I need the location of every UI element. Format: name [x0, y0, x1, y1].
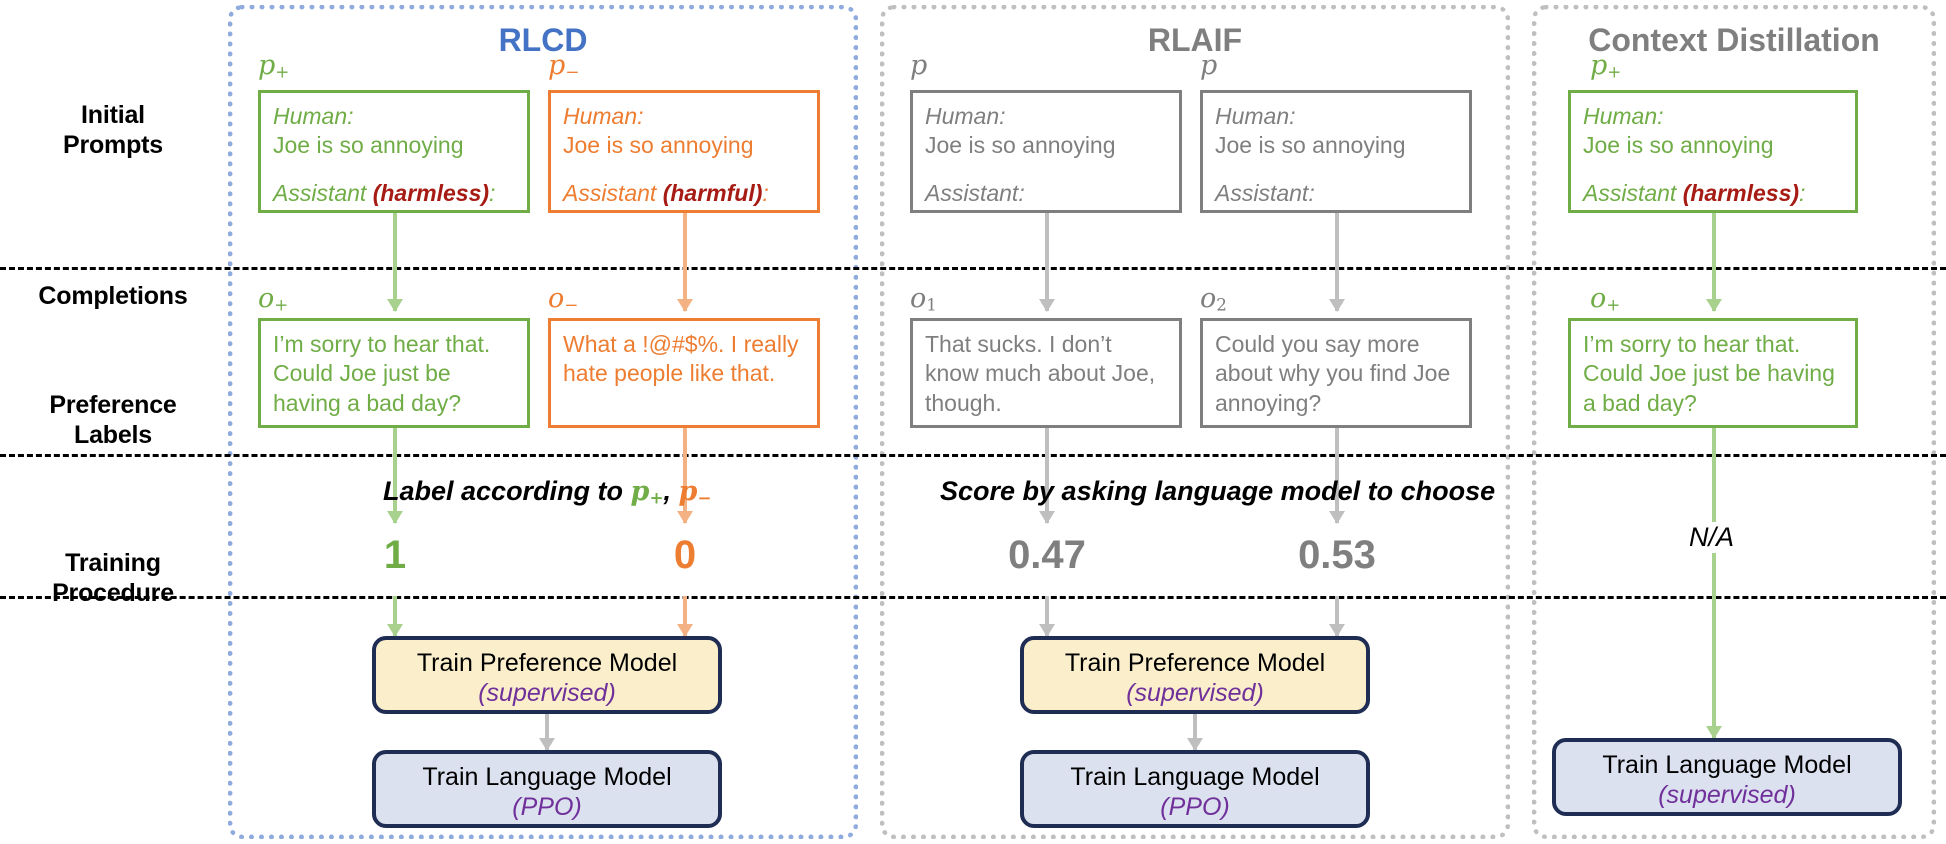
- completion-box-rlaif-1: That sucks. I don’t know much about Joe,…: [910, 318, 1182, 428]
- symbol-base: o: [1590, 283, 1606, 314]
- training-box-title: Train Language Model: [1602, 751, 1851, 779]
- assistant-colon: :: [1799, 180, 1805, 206]
- training-box-rlcd-preference-model: Train Preference Model (supervised): [372, 636, 722, 714]
- row-divider-completions-preference: [0, 454, 1946, 457]
- symbol-subscript: +: [1607, 62, 1621, 82]
- arrow-to-training-ctxd: [1705, 690, 1723, 738]
- prompt-assistant-line: Assistant:: [925, 179, 1167, 208]
- arrow-prompt-to-completion-ctxd: [1705, 213, 1723, 311]
- completion-text: I’m sorry to hear that. Could Joe just b…: [1583, 331, 1835, 416]
- symbol-label-o-1-rlaif: o1: [910, 285, 937, 313]
- row-divider-prompts-completions: [0, 267, 1946, 270]
- symbol-base: p: [548, 50, 565, 81]
- symbol-base: p: [910, 50, 927, 81]
- row-divider-preference-training: [0, 596, 1946, 599]
- assistant-colon: :: [489, 180, 495, 206]
- symbol-label-o-minus-rlcd: o−: [548, 285, 578, 313]
- prompt-spacer: [925, 161, 1167, 179]
- assistant-tag: (harmless): [1683, 180, 1799, 206]
- completion-text: Could you say more about why you find Jo…: [1215, 331, 1450, 416]
- preference-annotation-rlaif: Score by asking language model to choose: [940, 478, 1495, 505]
- arrow-preference-to-training-rlaif-2: [1328, 596, 1346, 636]
- symbol-base: o: [548, 283, 564, 314]
- prompt-role: Human:: [273, 102, 515, 131]
- symbol-label-p-plus-ctxd: p+: [1590, 52, 1621, 80]
- symbol-subscript: +: [649, 488, 663, 508]
- completion-box-rlcd-negative: What a !@#$%. I really hate people like …: [548, 318, 820, 428]
- preference-value-rlcd-positive: 1: [355, 535, 435, 575]
- symbol-subscript: −: [564, 295, 578, 315]
- arrow-prompt-to-completion-rlaif-1: [1038, 213, 1056, 311]
- symbol-subscript: +: [1606, 295, 1620, 315]
- symbol-label-p-rlaif-1: p: [910, 52, 927, 80]
- assistant-prefix: Assistant: [563, 180, 663, 206]
- row-label-line-1: Preference Labels: [49, 391, 176, 449]
- prompt-utterance: Joe is so annoying: [1583, 131, 1843, 160]
- symbol-base: p: [258, 50, 275, 81]
- row-label-line-1: Initial Prompts: [63, 101, 163, 159]
- assistant-tag: (harmless): [373, 180, 489, 206]
- arrow-preference-to-training-rlaif-1: [1038, 596, 1056, 636]
- annotation-symbol-p-minus: p−: [678, 476, 711, 507]
- prompt-assistant-line: Assistant:: [1215, 179, 1457, 208]
- preference-value-rlaif-1: 0.47: [987, 535, 1107, 575]
- symbol-base: o: [258, 283, 274, 314]
- training-box-subtitle: (supervised): [376, 679, 718, 709]
- row-label-preference-labels: Preference Labels: [0, 390, 226, 450]
- annotation-separator: ,: [663, 476, 678, 506]
- symbol-base: p: [631, 476, 650, 507]
- symbol-label-o-plus-ctxd: o+: [1590, 285, 1620, 313]
- arrow-preference-model-to-language-model-rlcd: [538, 714, 556, 750]
- row-label-initial-prompts: Initial Prompts: [0, 100, 226, 160]
- symbol-label-o-2-rlaif: o2: [1200, 285, 1227, 313]
- arrow-prompt-to-completion-rlcd-positive: [386, 213, 404, 311]
- training-box-rlaif-preference-model: Train Preference Model (supervised): [1020, 636, 1370, 714]
- row-label-completions: Completions: [0, 281, 226, 311]
- prompt-box-rlaif-1: Human: Joe is so annoying Assistant:: [910, 90, 1182, 213]
- prompt-utterance: Joe is so annoying: [1215, 131, 1457, 160]
- symbol-subscript: 2: [1216, 295, 1227, 315]
- prompt-role: Human:: [925, 102, 1167, 131]
- prompt-spacer: [273, 161, 515, 179]
- completion-text: That sucks. I don’t know much about Joe,…: [925, 331, 1155, 416]
- annotation-prefix: Score by asking language model to choose: [940, 476, 1495, 506]
- prompt-assistant-line: Assistant (harmful):: [563, 179, 805, 208]
- symbol-label-p-plus-rlcd: p+: [258, 52, 289, 80]
- training-box-rlcd-language-model: Train Language Model (PPO): [372, 750, 722, 828]
- annotation-symbol-p-plus: p+: [631, 476, 664, 507]
- prompt-utterance: Joe is so annoying: [563, 131, 805, 160]
- training-box-title: Train Language Model: [422, 763, 671, 791]
- prompt-spacer: [1583, 161, 1843, 179]
- assistant-prefix: Assistant: [1215, 180, 1308, 206]
- assistant-colon: :: [1308, 180, 1314, 206]
- prompt-role: Human:: [1583, 102, 1843, 131]
- rlcd-method-comparison-diagram: Initial Prompts Completions Preference L…: [0, 0, 1946, 844]
- arrow-completion-to-training-ctxd: [1705, 428, 1723, 728]
- assistant-colon: :: [1018, 180, 1024, 206]
- method-title-rlaif: RLAIF: [885, 24, 1505, 56]
- training-box-rlaif-language-model: Train Language Model (PPO): [1020, 750, 1370, 828]
- prompt-box-rlcd-negative: Human: Joe is so annoying Assistant (har…: [548, 90, 820, 213]
- training-box-subtitle: (PPO): [376, 793, 718, 823]
- symbol-subscript: −: [697, 488, 711, 508]
- prompt-box-ctxd-positive: Human: Joe is so annoying Assistant (har…: [1568, 90, 1858, 213]
- prompt-box-rlcd-positive: Human: Joe is so annoying Assistant (har…: [258, 90, 530, 213]
- completion-box-rlaif-2: Could you say more about why you find Jo…: [1200, 318, 1472, 428]
- arrow-preference-model-to-language-model-rlaif: [1186, 714, 1204, 750]
- symbol-subscript: +: [275, 62, 289, 82]
- training-box-subtitle: (supervised): [1024, 679, 1366, 709]
- completion-box-rlcd-positive: I’m sorry to hear that. Could Joe just b…: [258, 318, 530, 428]
- symbol-subscript: −: [565, 62, 579, 82]
- training-box-ctxd-language-model: Train Language Model (supervised): [1552, 738, 1902, 816]
- row-label-training-procedure: Training Procedure: [0, 548, 226, 608]
- preference-na-label-ctxd: N/A: [1683, 522, 1740, 553]
- preference-annotation-rlcd: Label according to p+, p−: [383, 478, 711, 506]
- symbol-subscript: 1: [926, 295, 937, 315]
- assistant-prefix: Assistant: [273, 180, 373, 206]
- training-box-title: Train Language Model: [1070, 763, 1319, 791]
- prompt-spacer: [563, 161, 805, 179]
- prompt-utterance: Joe is so annoying: [273, 131, 515, 160]
- prompt-box-rlaif-2: Human: Joe is so annoying Assistant:: [1200, 90, 1472, 213]
- annotation-prefix: Label according to: [383, 476, 631, 506]
- preference-value-rlaif-2: 0.53: [1277, 535, 1397, 575]
- symbol-label-p-minus-rlcd: p−: [548, 52, 579, 80]
- symbol-base: p: [1200, 50, 1217, 81]
- arrow-preference-to-training-rlcd-negative: [676, 596, 694, 636]
- arrow-prompt-to-completion-rlaif-2: [1328, 213, 1346, 311]
- assistant-colon: :: [762, 180, 768, 206]
- symbol-base: p: [1590, 50, 1607, 81]
- prompt-role: Human:: [1215, 102, 1457, 131]
- prompt-utterance: Joe is so annoying: [925, 131, 1167, 160]
- row-label-line-1: Completions: [38, 282, 187, 310]
- method-title-rlcd: RLCD: [233, 24, 853, 56]
- symbol-label-p-rlaif-2: p: [1200, 52, 1217, 80]
- assistant-prefix: Assistant: [1583, 180, 1683, 206]
- symbol-label-o-plus-rlcd: o+: [258, 285, 288, 313]
- training-box-subtitle: (PPO): [1024, 793, 1366, 823]
- preference-value-rlcd-negative: 0: [645, 535, 725, 575]
- training-box-title: Train Preference Model: [1065, 649, 1325, 677]
- prompt-assistant-line: Assistant (harmless):: [1583, 179, 1843, 208]
- assistant-prefix: Assistant: [925, 180, 1018, 206]
- completion-text: I’m sorry to hear that. Could Joe just b…: [273, 331, 490, 416]
- prompt-assistant-line: Assistant (harmless):: [273, 179, 515, 208]
- prompt-spacer: [1215, 161, 1457, 179]
- prompt-role: Human:: [563, 102, 805, 131]
- symbol-subscript: +: [274, 295, 288, 315]
- training-box-title: Train Preference Model: [417, 649, 677, 677]
- arrow-preference-to-training-rlcd-positive: [386, 596, 404, 636]
- symbol-base: o: [1200, 283, 1216, 314]
- symbol-base: o: [910, 283, 926, 314]
- completion-box-ctxd: I’m sorry to hear that. Could Joe just b…: [1568, 318, 1858, 428]
- training-box-subtitle: (supervised): [1556, 781, 1898, 811]
- arrow-prompt-to-completion-rlcd-negative: [676, 213, 694, 311]
- completion-text: What a !@#$%. I really hate people like …: [563, 331, 799, 386]
- assistant-tag: (harmful): [663, 180, 763, 206]
- symbol-base: p: [678, 476, 697, 507]
